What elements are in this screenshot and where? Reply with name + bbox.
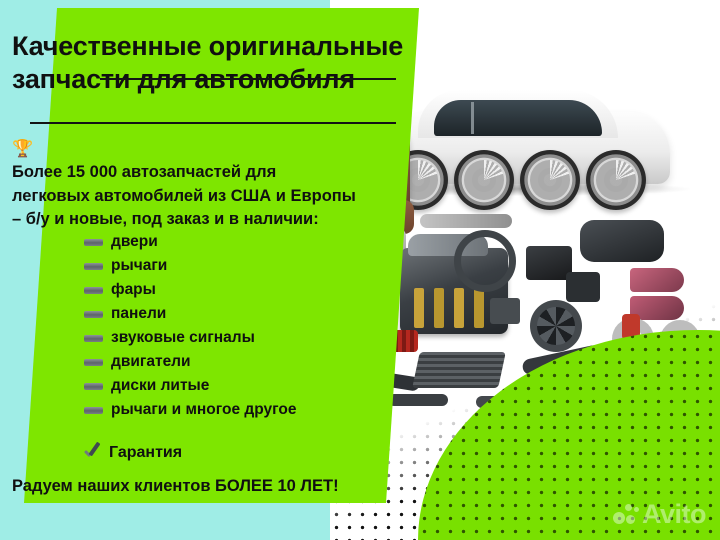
guarantee-label: Гарантия — [109, 444, 182, 462]
advertisement-poster: Качественные оригинальные запчасти для а… — [0, 0, 720, 540]
misc-part — [566, 272, 600, 302]
dash-bullet-icon — [84, 383, 103, 390]
list-item-label: звуковые сигналы — [111, 330, 255, 346]
list-item: панели — [84, 302, 414, 326]
poster-content: Качественные оригинальные запчасти для а… — [0, 0, 430, 540]
check-mark-icon — [82, 443, 102, 463]
steering-wheel-part — [454, 230, 516, 292]
list-item: двигатели — [84, 350, 414, 374]
avito-brand-text: Avito — [642, 501, 706, 528]
headline-line-1: Качественные оригинальные — [12, 30, 412, 63]
dash-bullet-icon — [84, 239, 103, 246]
list-item-label: фары — [111, 282, 156, 298]
avito-dots-icon — [613, 504, 639, 526]
list-item: двери — [84, 230, 414, 254]
list-item-label: панели — [111, 306, 166, 322]
tail-light-part — [630, 268, 684, 292]
dash-bullet-icon — [84, 359, 103, 366]
parts-list: двери рычаги фары панели звуковые сигнал… — [84, 230, 414, 422]
dash-bullet-icon — [84, 407, 103, 414]
airbox-part — [580, 220, 664, 262]
list-item-label: рычаги — [111, 258, 167, 274]
list-item: звуковые сигналы — [84, 326, 414, 350]
list-item: рычаги и многое другое — [84, 398, 414, 422]
page-title: Качественные оригинальные запчасти для а… — [12, 30, 412, 96]
dash-bullet-icon — [84, 287, 103, 294]
lead-paragraph: 🏆Более 15 000 автозапчастей для легковых… — [12, 137, 412, 231]
headline-divider-1 — [100, 78, 396, 80]
list-item-label: рычаги и многое другое — [111, 402, 296, 418]
avito-watermark: Avito — [613, 501, 706, 528]
lead-line-2: легковых автомобилей из США и Европы — [12, 185, 412, 208]
list-item-label: двигатели — [111, 354, 191, 370]
list-item-label: диски литые — [111, 378, 209, 394]
lead-line-3: – б/у и новые, под заказ и в наличии: — [12, 208, 412, 231]
list-item: фары — [84, 278, 414, 302]
lead-line-1-text: Более 15 000 автозапчастей для — [12, 161, 412, 184]
wheel — [454, 150, 514, 210]
exhaust-muffler-part — [420, 214, 512, 228]
dash-bullet-icon — [84, 263, 103, 270]
dash-bullet-icon — [84, 335, 103, 342]
guarantee-badge: Гарантия — [82, 443, 182, 463]
list-item: диски литые — [84, 374, 414, 398]
dash-bullet-icon — [84, 311, 103, 318]
car-window-glass — [434, 100, 602, 136]
headline-divider-2 — [30, 122, 396, 124]
wheel — [520, 150, 580, 210]
list-item-label: двери — [111, 234, 158, 250]
list-item: рычаги — [84, 254, 414, 278]
trophy-icon: 🏆 — [12, 137, 409, 161]
lead-line-1: 🏆Более 15 000 автозапчастей для — [12, 137, 412, 185]
tagline: Радуем наших клиентов БОЛЕЕ 10 ЛЕТ! — [12, 477, 339, 496]
wheel — [586, 150, 646, 210]
